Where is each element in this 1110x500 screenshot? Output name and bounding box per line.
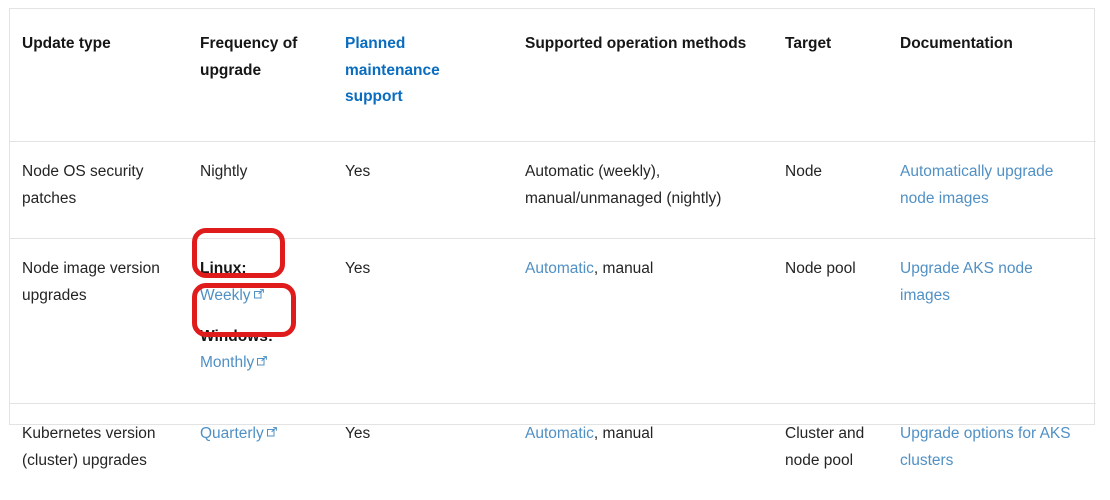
supported-methods-rest: , manual — [594, 260, 653, 277]
documentation-link[interactable]: Upgrade options for AKS clusters — [900, 425, 1071, 469]
documentation-link[interactable]: Upgrade AKS node images — [900, 260, 1033, 304]
cell-frequency: Linux: Weekly Windows: Monthly — [188, 239, 333, 404]
cell-frequency: Nightly — [188, 141, 333, 238]
frequency-group-windows: Windows: Monthly — [200, 324, 319, 377]
os-label-linux: Linux: — [200, 256, 319, 283]
cell-target: Node pool — [773, 239, 888, 404]
column-header-update-type: Update type — [10, 9, 188, 141]
column-header-planned-maintenance-support: Planned maintenance support — [333, 9, 513, 141]
supported-methods-automatic-link[interactable]: Automatic — [525, 425, 594, 442]
update-type-text: Node OS security patches — [22, 163, 143, 207]
table-row: Node OS security patches Nightly Yes Aut… — [10, 141, 1096, 238]
column-header-label: Supported operation methods — [525, 35, 746, 52]
aks-update-types-table: Update type Frequency of upgrade Planned… — [10, 9, 1096, 500]
linux-cadence-wrapper: Weekly — [200, 283, 319, 310]
planned-maintenance-value: Yes — [345, 425, 370, 442]
cell-target: Node — [773, 141, 888, 238]
cell-update-type: Kubernetes version (cluster) upgrades — [10, 403, 188, 500]
external-link-icon — [267, 427, 277, 437]
supported-methods-rest: , manual — [594, 425, 653, 442]
table-body: Node OS security patches Nightly Yes Aut… — [10, 141, 1096, 500]
cell-update-type: Node OS security patches — [10, 141, 188, 238]
column-header-target: Target — [773, 9, 888, 141]
cell-supported-methods: Automatic, manual — [513, 403, 773, 500]
table-row: Kubernetes version (cluster) upgrades Qu… — [10, 403, 1096, 500]
cell-planned-maintenance: Yes — [333, 141, 513, 238]
os-label-windows: Windows: — [200, 324, 319, 351]
frequency-text: Nightly — [200, 163, 247, 180]
frequency-quarterly-link[interactable]: Quarterly — [200, 425, 264, 442]
planned-maintenance-value: Yes — [345, 260, 370, 277]
planned-maintenance-value: Yes — [345, 163, 370, 180]
cell-supported-methods: Automatic (weekly), manual/unmanaged (ni… — [513, 141, 773, 238]
column-header-label: Documentation — [900, 35, 1013, 52]
windows-cadence-link[interactable]: Monthly — [200, 354, 254, 371]
column-header-documentation: Documentation — [888, 9, 1096, 141]
table-header: Update type Frequency of upgrade Planned… — [10, 9, 1096, 141]
documentation-link[interactable]: Automatically upgrade node images — [900, 163, 1053, 207]
target-text: Cluster and node pool — [785, 425, 864, 469]
update-types-table-container: Update type Frequency of upgrade Planned… — [9, 8, 1095, 425]
cell-documentation: Upgrade AKS node images — [888, 239, 1096, 404]
column-header-frequency-of-upgrade: Frequency of upgrade — [188, 9, 333, 141]
cell-supported-methods: Automatic, manual — [513, 239, 773, 404]
table-header-row: Update type Frequency of upgrade Planned… — [10, 9, 1096, 141]
column-header-supported-operation-methods: Supported operation methods — [513, 9, 773, 141]
cell-update-type: Node image version upgrades — [10, 239, 188, 404]
column-header-label: Target — [785, 35, 831, 52]
external-link-icon — [257, 356, 267, 366]
cell-frequency: Quarterly — [188, 403, 333, 500]
cell-documentation: Upgrade options for AKS clusters — [888, 403, 1096, 500]
supported-methods-text: Automatic (weekly), manual/unmanaged (ni… — [525, 163, 721, 207]
external-link-icon — [254, 289, 264, 299]
target-text: Node pool — [785, 260, 856, 277]
table-row: Node image version upgrades Linux: Weekl… — [10, 239, 1096, 404]
cell-planned-maintenance: Yes — [333, 239, 513, 404]
cell-documentation: Automatically upgrade node images — [888, 141, 1096, 238]
column-header-label: Update type — [22, 35, 111, 52]
update-type-text: Node image version upgrades — [22, 260, 160, 304]
cell-planned-maintenance: Yes — [333, 403, 513, 500]
column-header-label: Frequency of upgrade — [200, 35, 297, 79]
supported-methods-automatic-link[interactable]: Automatic — [525, 260, 594, 277]
frequency-group-linux: Linux: Weekly — [200, 256, 319, 309]
windows-cadence-wrapper: Monthly — [200, 350, 319, 377]
update-type-text: Kubernetes version (cluster) upgrades — [22, 425, 156, 469]
target-text: Node — [785, 163, 822, 180]
cell-target: Cluster and node pool — [773, 403, 888, 500]
planned-maintenance-support-link[interactable]: Planned maintenance support — [345, 35, 440, 105]
linux-cadence-link[interactable]: Weekly — [200, 287, 251, 304]
